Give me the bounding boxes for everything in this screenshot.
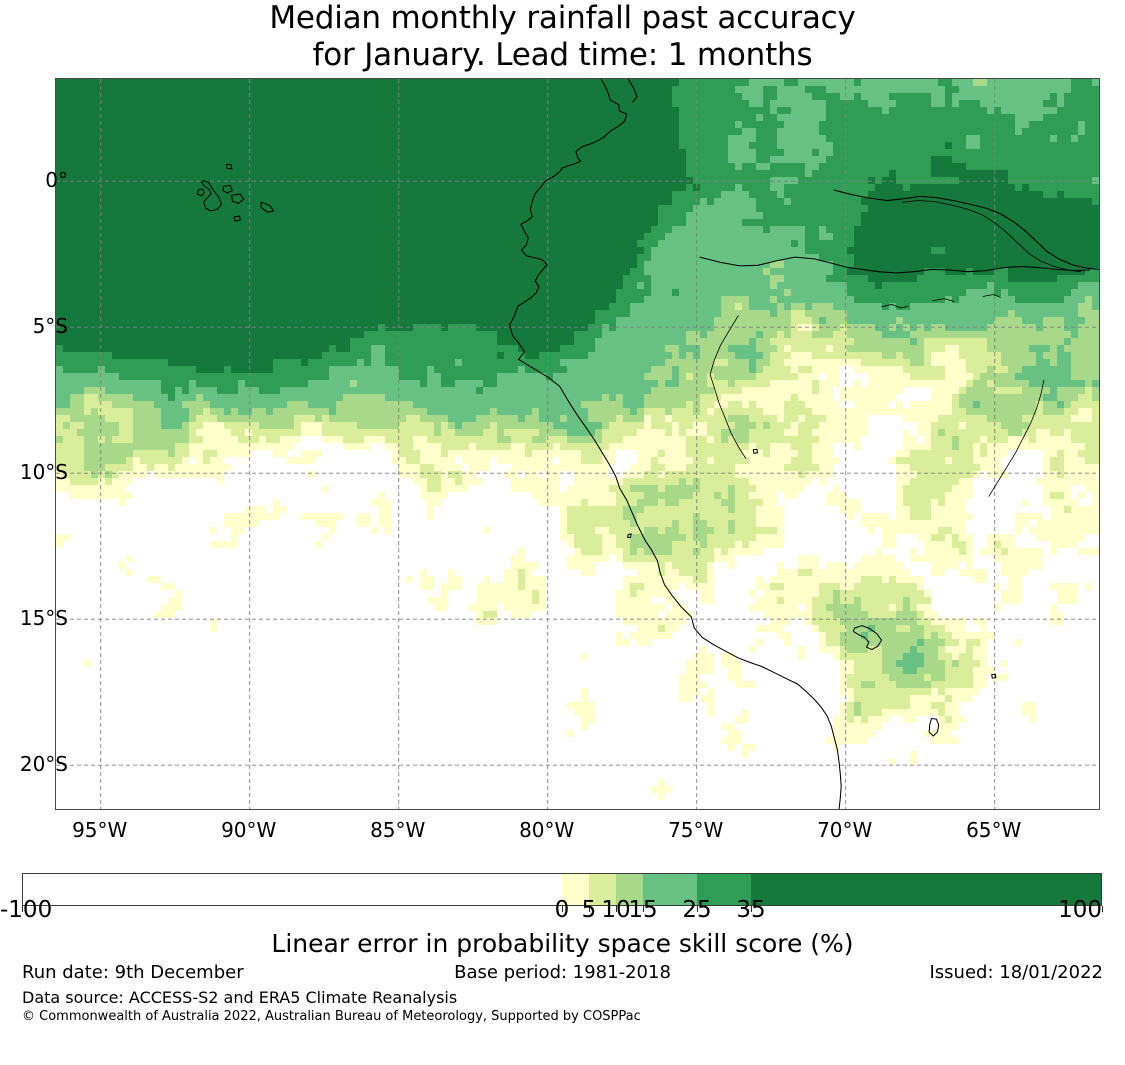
x-tick-label: 85°W <box>370 820 425 840</box>
colorbar-segment <box>23 874 562 905</box>
footer-row: Run date: 9th December Base period: 1981… <box>0 962 1125 986</box>
colorbar-tick-label: 25 <box>682 899 711 922</box>
x-tick-label: 90°W <box>221 820 276 840</box>
colorbar-tick-label: 15 <box>628 899 657 922</box>
river-rio-negro <box>834 190 1099 269</box>
river-amazon <box>700 257 1090 273</box>
y-tick-label: 5°S <box>33 316 68 336</box>
river-fragment-1 <box>882 304 909 308</box>
colorbar-axis-label: Linear error in probability space skill … <box>0 930 1125 958</box>
lake-small-1 <box>753 449 757 453</box>
island-isabela <box>201 181 221 211</box>
colorbar-tick-label: 0 <box>555 899 570 922</box>
river-fragment-2 <box>932 299 954 302</box>
footer-copyright: © Commonwealth of Australia 2022, Austra… <box>22 1008 641 1025</box>
footer-issued: Issued: 18/01/2022 <box>929 962 1103 984</box>
colorbar-segment <box>751 874 1101 905</box>
y-tick-label: 20°S <box>20 754 68 774</box>
island-pinta <box>227 164 232 169</box>
river-rio-negro-branch <box>902 201 1081 272</box>
x-tick-label: 65°W <box>966 820 1021 840</box>
footer-run-date: Run date: 9th December <box>22 962 244 984</box>
river-fragment-3 <box>983 295 1001 298</box>
y-tick-label: 10°S <box>20 462 68 482</box>
title-line-1: Median monthly rainfall past accuracy <box>0 0 1125 37</box>
island-san-lorenzo <box>628 534 632 538</box>
colorbar-tick-mark <box>1102 906 1103 912</box>
island-santa-cruz <box>232 194 244 203</box>
footer-data-source: Data source: ACCESS-S2 and ERA5 Climate … <box>22 988 457 1008</box>
x-tick-label: 70°W <box>817 820 872 840</box>
coastline-pacific-south-america <box>510 79 842 809</box>
page-title: Median monthly rainfall past accuracy fo… <box>0 0 1125 74</box>
footer-base-period: Base period: 1981-2018 <box>454 962 671 984</box>
x-tick-label: 75°W <box>668 820 723 840</box>
x-tick-label: 80°W <box>519 820 574 840</box>
river-madeira <box>989 380 1044 497</box>
y-tick-label: 15°S <box>20 608 68 628</box>
title-line-2: for January. Lead time: 1 months <box>0 37 1125 74</box>
island-espanola <box>234 216 240 221</box>
colorbar-tick-label: 10 <box>601 899 630 922</box>
lake-fragment <box>992 674 996 678</box>
map-plot-area[interactable] <box>55 78 1100 810</box>
colorbar-tick-label: 100 <box>1058 899 1102 922</box>
island-san-cristobal <box>261 202 274 212</box>
lake-poopo <box>929 719 939 737</box>
colorbar-tick-label: -100 <box>0 899 52 922</box>
x-tick-label: 95°W <box>72 820 127 840</box>
colorbar-tick-label: 5 <box>582 899 597 922</box>
colorbar-tick-label: 35 <box>736 899 765 922</box>
island-fernandina <box>197 189 204 196</box>
y-tick-label: 0° <box>45 170 68 190</box>
coastline-colombia-inland <box>628 79 637 102</box>
island-santiago <box>223 185 233 193</box>
map-coastlines-and-gridlines <box>56 79 1099 809</box>
river-ucayali <box>710 316 746 459</box>
lake-titicaca <box>853 626 881 650</box>
